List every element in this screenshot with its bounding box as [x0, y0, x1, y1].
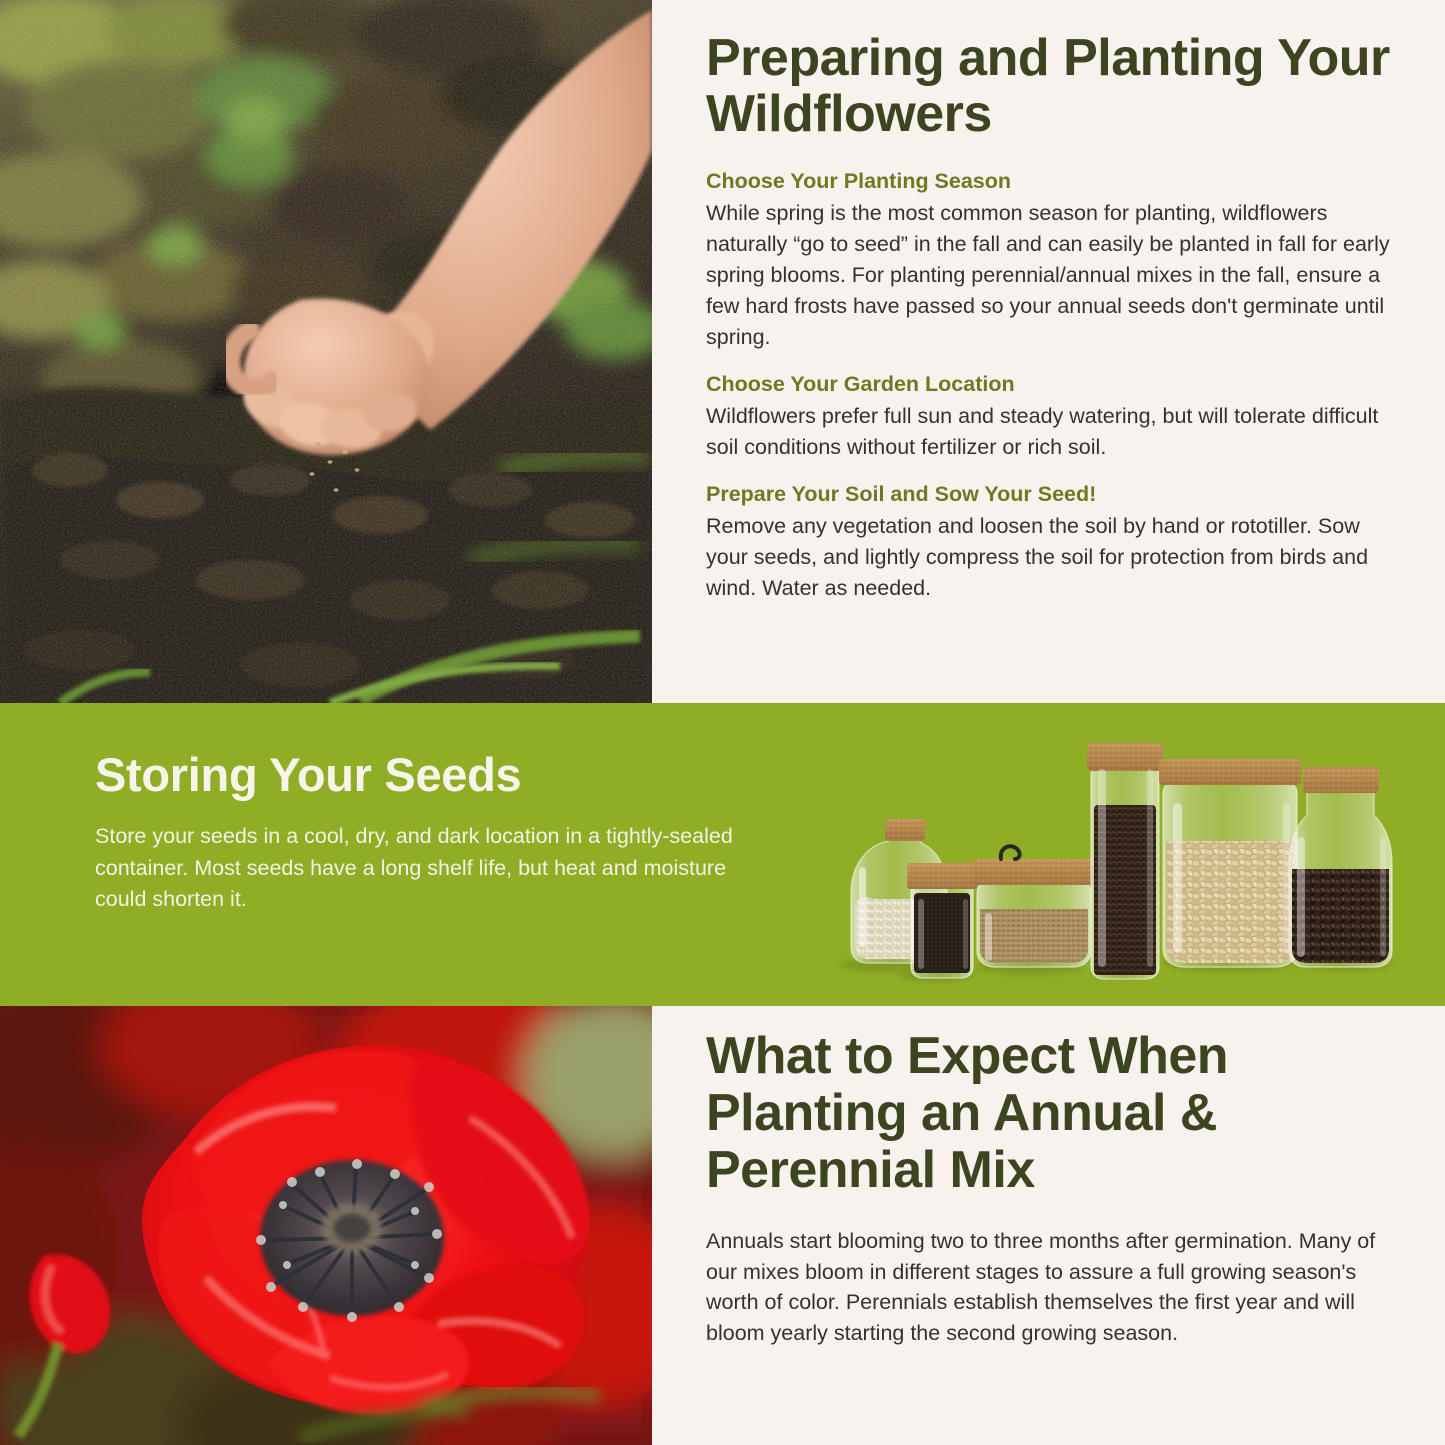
body-garden-location: Wildflowers prefer full sun and steady w… — [706, 401, 1393, 463]
red-poppy-flower-photo — [0, 1006, 652, 1445]
body-prepare-soil: Remove any vegetation and loosen the soi… — [706, 511, 1393, 604]
expect-heading: What to Expect When Planting an Annual &… — [706, 1028, 1393, 1200]
storing-heading: Storing Your Seeds — [95, 750, 735, 799]
body-planting-season: While spring is the most common season f… — [706, 198, 1393, 353]
storing-body: Store your seeds in a cool, dry, and dar… — [95, 821, 735, 915]
glass-seed-storage-jars-photo — [815, 717, 1435, 992]
preparing-text-column: Preparing and Planting Your Wildflowers … — [652, 0, 1445, 703]
section-storing-your-seeds: Storing Your Seeds Store your seeds in a… — [0, 703, 1445, 1006]
hands-sowing-seeds-in-soil-photo — [0, 0, 652, 703]
subheading-garden-location: Choose Your Garden Location — [706, 371, 1393, 399]
section-what-to-expect: What to Expect When Planting an Annual &… — [0, 1006, 1445, 1445]
storing-text-column: Storing Your Seeds Store your seeds in a… — [95, 750, 735, 915]
subheading-planting-season: Choose Your Planting Season — [706, 168, 1393, 196]
expect-body: Annuals start blooming two to three mont… — [706, 1226, 1393, 1350]
what-to-expect-text-column: What to Expect When Planting an Annual &… — [652, 1006, 1445, 1445]
page-title: Preparing and Planting Your Wildflowers — [706, 30, 1393, 142]
section-preparing-and-planting: Preparing and Planting Your Wildflowers … — [0, 0, 1445, 703]
subheading-prepare-soil: Prepare Your Soil and Sow Your Seed! — [706, 481, 1393, 509]
infographic-page: Preparing and Planting Your Wildflowers … — [0, 0, 1445, 1445]
